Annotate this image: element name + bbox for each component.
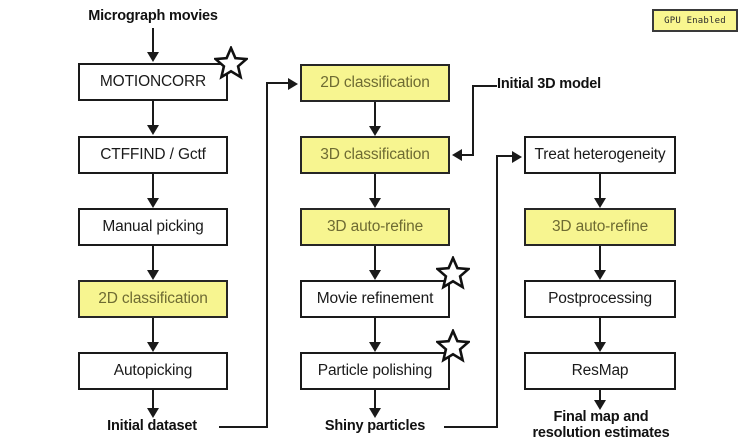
connector-initial-3d-model-down (472, 85, 474, 155)
connector-initial-dataset-up (266, 82, 268, 428)
arrowhead-shiny-particles-to-treat-heterogeneity (512, 151, 522, 163)
connector-initial-dataset-right (219, 426, 268, 428)
terminal-final-map-line2: resolution estimates (532, 425, 669, 441)
step-ctffind-gctf[interactable]: CTFFIND / Gctf (78, 136, 228, 174)
step-ctffind-gctf-label: CTFFIND / Gctf (100, 147, 206, 163)
arrowhead-treat-heterogeneity-to-3d-auto-refine (594, 198, 606, 208)
connector-motioncorr-to-ctffind (152, 101, 154, 127)
arrowhead-postprocessing-to-resmap (594, 342, 606, 352)
arrowhead-movies-to-motioncorr (147, 52, 159, 62)
arrowhead-movie-refinement-to-particle-polishing (369, 342, 381, 352)
connector-movies-to-motioncorr (152, 28, 154, 54)
arrowhead-3d-auto-refine-to-movie-refinement (369, 270, 381, 280)
connector-postprocessing-to-resmap (599, 318, 601, 344)
gpu-enabled-legend-label: GPU Enabled (664, 16, 726, 26)
connector-2d-classification-to-autopicking (152, 318, 154, 344)
step-treat-heterogeneity[interactable]: Treat heterogeneity (524, 136, 676, 174)
arrowhead-3d-classification-to-3d-auto-refine (369, 198, 381, 208)
step-motioncorr[interactable]: MOTIONCORR (78, 63, 228, 101)
connector-3d-auto-refine-to-movie-refinement (374, 246, 376, 272)
step-manual-picking-label: Manual picking (102, 219, 203, 235)
step-particle-polishing-label: Particle polishing (318, 363, 432, 379)
step-3d-auto-refine-refinement-label: 3D auto-refine (327, 219, 423, 235)
connector-2d-to-3d-classification (374, 102, 376, 128)
connector-movie-refinement-to-particle-polishing (374, 318, 376, 344)
connector-treat-heterogeneity-to-3d-auto-refine (599, 174, 601, 200)
arrowhead-3d-auto-refine-to-postprocessing (594, 270, 606, 280)
terminal-final-map-line1: Final map and (554, 409, 649, 425)
gpu-enabled-legend: GPU Enabled (652, 9, 738, 32)
terminal-final-map: Final map and resolution estimates (516, 409, 686, 441)
step-postprocessing-label: Postprocessing (548, 291, 652, 307)
terminal-initial-3d-model: Initial 3D model (497, 76, 633, 92)
arrowhead-initial-3d-model-to-3d-classification (452, 149, 462, 161)
step-postprocessing[interactable]: Postprocessing (524, 280, 676, 318)
star-icon-movie-refinement (436, 256, 470, 290)
star-icon-motioncorr (214, 46, 248, 80)
connector-ctffind-to-manual-picking (152, 174, 154, 200)
connector-shiny-particles-up (496, 155, 498, 428)
step-autopicking-label: Autopicking (114, 363, 192, 379)
step-3d-auto-refine-finalization-label: 3D auto-refine (552, 219, 648, 235)
step-3d-classification-label: 3D classification (320, 147, 429, 163)
step-2d-classification-refinement-label: 2D classification (320, 75, 429, 91)
terminal-micrograph-movies: Micrograph movies (78, 8, 228, 24)
step-autopicking[interactable]: Autopicking (78, 352, 228, 390)
connector-shiny-particles-right (444, 426, 498, 428)
step-3d-auto-refine-finalization[interactable]: 3D auto-refine (524, 208, 676, 246)
step-2d-classification-preprocessing[interactable]: 2D classification (78, 280, 228, 318)
step-motioncorr-label: MOTIONCORR (100, 74, 206, 90)
connector-initial-dataset-into-2d (266, 82, 290, 84)
connector-3d-classification-to-3d-auto-refine (374, 174, 376, 200)
arrowhead-2d-classification-to-autopicking (147, 342, 159, 352)
step-3d-classification[interactable]: 3D classification (300, 136, 450, 174)
step-2d-classification-refinement[interactable]: 2D classification (300, 64, 450, 102)
step-manual-picking[interactable]: Manual picking (78, 208, 228, 246)
step-movie-refinement-label: Movie refinement (317, 291, 433, 307)
connector-3d-auto-refine-to-postprocessing (599, 246, 601, 272)
arrowhead-autopicking-to-initial-dataset (147, 408, 159, 418)
workflow-diagram: GPU Enabled Micrograph movies MOTIONCORR… (0, 0, 744, 445)
step-2d-classification-preprocessing-label: 2D classification (98, 291, 207, 307)
step-particle-polishing[interactable]: Particle polishing (300, 352, 450, 390)
arrowhead-ctffind-to-manual-picking (147, 198, 159, 208)
step-movie-refinement[interactable]: Movie refinement (300, 280, 450, 318)
connector-manual-picking-to-2d-classification (152, 246, 154, 272)
step-resmap[interactable]: ResMap (524, 352, 676, 390)
step-resmap-label: ResMap (572, 363, 629, 379)
connector-initial-3d-model-left (473, 85, 497, 87)
arrowhead-motioncorr-to-ctffind (147, 125, 159, 135)
arrowhead-particle-polishing-to-shiny-particles (369, 408, 381, 418)
arrowhead-initial-dataset-to-2d-classification (288, 78, 298, 90)
arrowhead-manual-picking-to-2d-classification (147, 270, 159, 280)
star-icon-particle-polishing (436, 329, 470, 363)
arrowhead-2d-to-3d-classification (369, 126, 381, 136)
step-treat-heterogeneity-label: Treat heterogeneity (535, 147, 666, 163)
connector-initial-3d-model-into-3d-classification (462, 154, 474, 156)
terminal-initial-dataset: Initial dataset (92, 418, 212, 434)
step-3d-auto-refine-refinement[interactable]: 3D auto-refine (300, 208, 450, 246)
terminal-shiny-particles: Shiny particles (312, 418, 438, 434)
